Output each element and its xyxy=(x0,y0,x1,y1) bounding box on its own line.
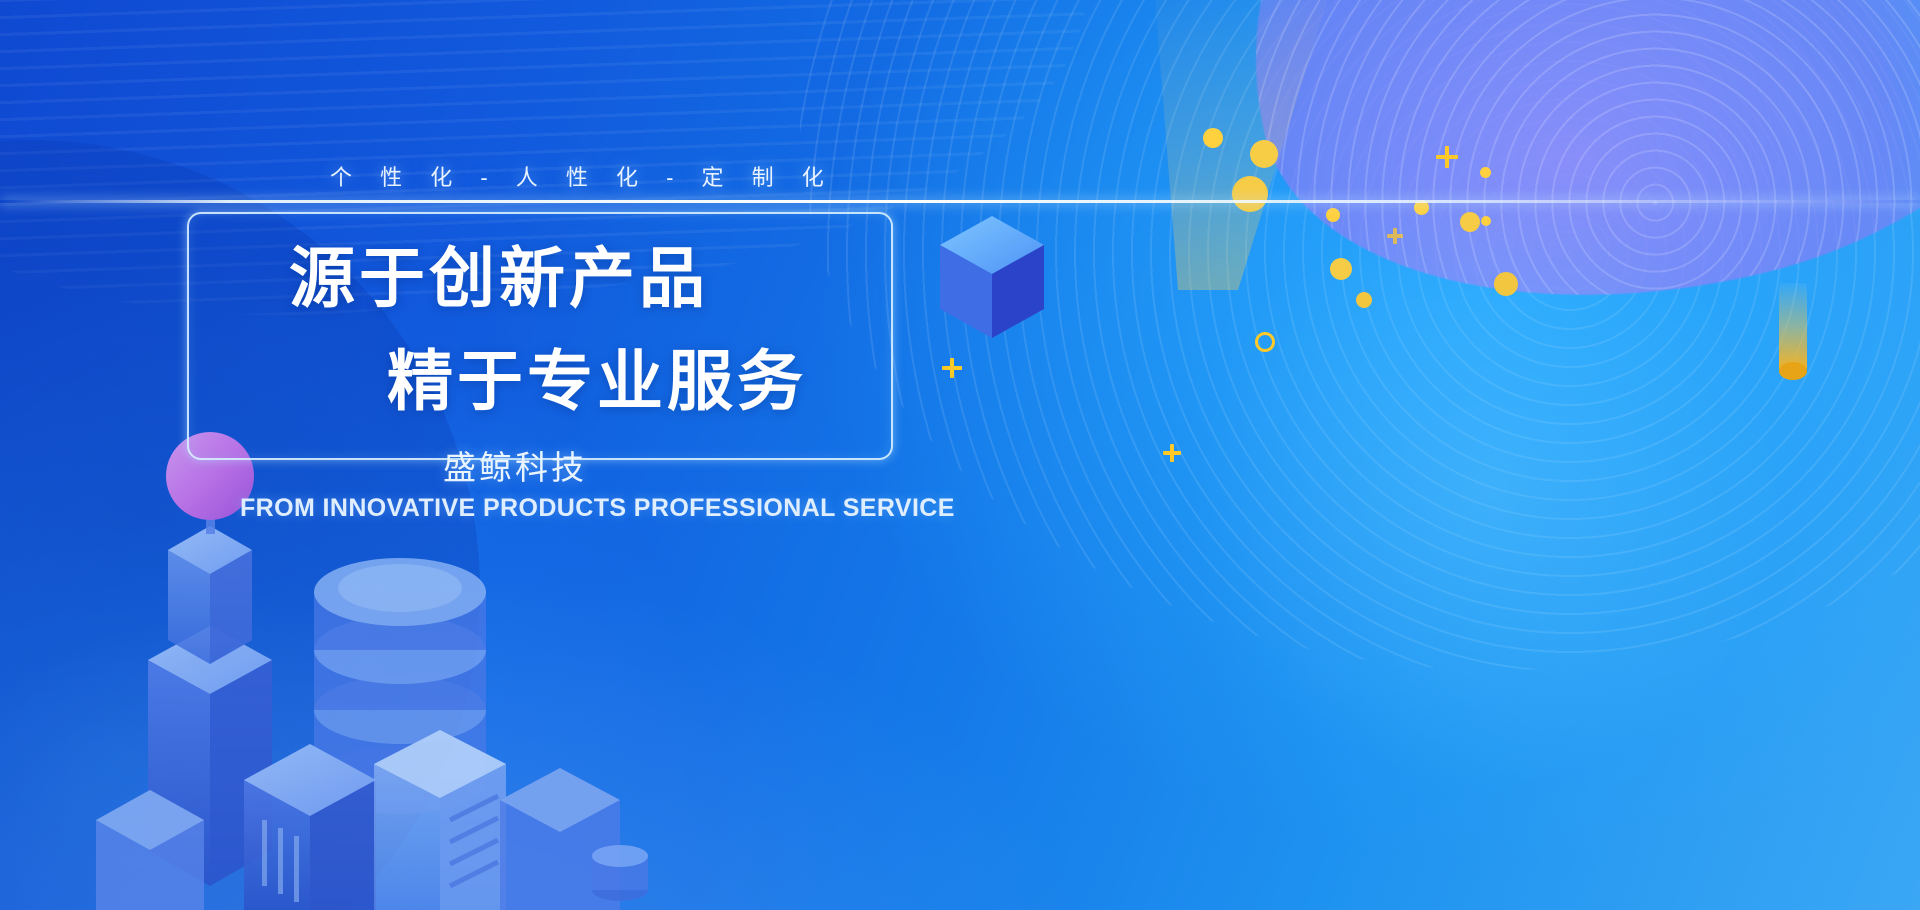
isometric-machine-illustration xyxy=(920,0,1920,910)
hero-title-line-2: 精于专业服务 xyxy=(387,348,807,414)
hero-kicker: 个 性 化 - 人 性 化 - 定 制 化 xyxy=(330,160,835,192)
hero-tagline: FROM INNOVATIVE PRODUCTS PROFESSIONAL SE… xyxy=(240,494,955,523)
frame-top-glow-line xyxy=(0,200,1920,203)
brand-name: 盛鲸科技 xyxy=(443,441,587,489)
hero-copy: 个 性 化 - 人 性 化 - 定 制 化 源于创新产品 精于专业服务 盛鲸科技… xyxy=(0,0,980,680)
hero-banner: 个 性 化 - 人 性 化 - 定 制 化 源于创新产品 精于专业服务 盛鲸科技… xyxy=(0,0,1920,910)
hero-title-line-1: 源于创新产品 xyxy=(289,245,709,311)
small-cylinder-building xyxy=(592,845,648,901)
light-beam xyxy=(1152,0,1340,290)
